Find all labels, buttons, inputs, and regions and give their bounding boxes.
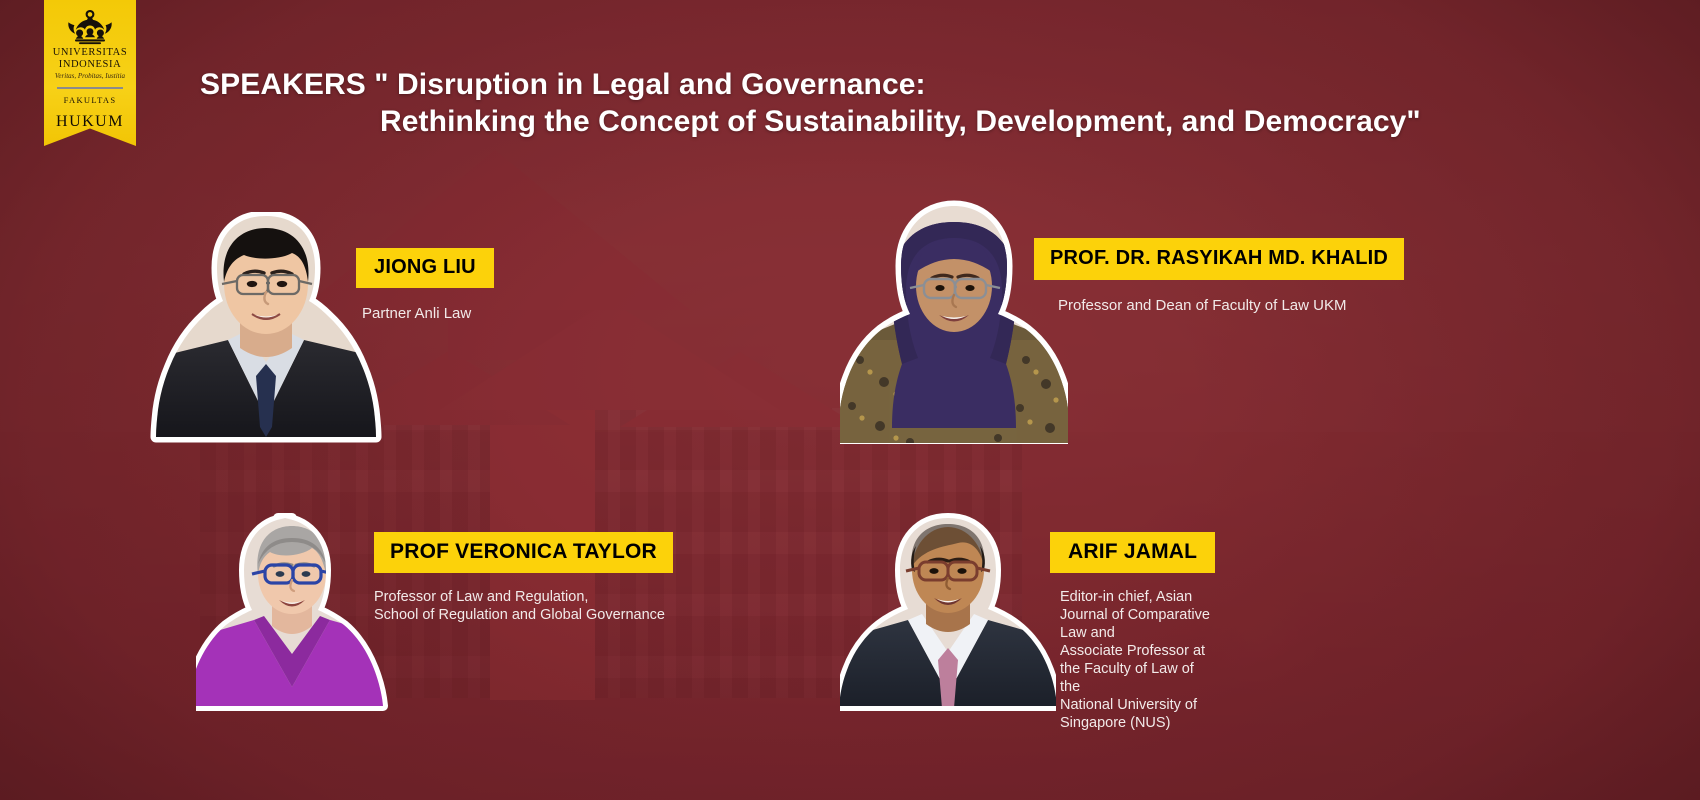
portrait-veronica-taylor	[196, 512, 392, 712]
speakers-poster: UNIVERSITAS INDONESIA Veritas, Probitas,…	[0, 0, 1700, 800]
speaker-info-veronica-taylor: PROF VERONICA TAYLOR Professor of Law an…	[374, 532, 673, 624]
ui-law-logo-banner: UNIVERSITAS INDONESIA Veritas, Probitas,…	[44, 0, 136, 158]
logo-motto: Veritas, Probitas, Iustitia	[44, 72, 136, 80]
speaker-name-badge: PROF. DR. RASYIKAH MD. KHALID	[1034, 238, 1404, 280]
logo-faculty-label: FAKULTAS	[44, 95, 136, 105]
speaker-info-rasyikah-md-khalid: PROF. DR. RASYIKAH MD. KHALID Professor …	[1034, 238, 1404, 315]
speaker-name-badge: PROF VERONICA TAYLOR	[374, 532, 673, 573]
speaker-role-text: Editor-in chief, Asian Journal of Compar…	[1060, 588, 1215, 732]
portrait-arif-jamal	[840, 512, 1056, 712]
logo-university-line1: UNIVERSITAS	[44, 47, 136, 59]
title-line-1: SPEAKERS " Disruption in Legal and Gover…	[200, 66, 1560, 103]
title-line-2: Rethinking the Concept of Sustainability…	[200, 103, 1560, 140]
speaker-role-text: Partner Anli Law	[362, 304, 494, 323]
speaker-info-arif-jamal: ARIF JAMAL Editor-in chief, Asian Journa…	[1050, 532, 1215, 732]
speaker-info-jiong-liu: JIONG LIU Partner Anli Law	[356, 248, 494, 323]
speaker-name-badge: JIONG LIU	[356, 248, 494, 288]
speaker-name-badge: ARIF JAMAL	[1050, 532, 1215, 573]
logo-faculty-name: HUKUM	[44, 113, 136, 131]
makara-ui-icon	[62, 9, 118, 45]
logo-divider	[57, 87, 123, 89]
portrait-rasyikah-md-khalid	[840, 200, 1068, 444]
poster-title: SPEAKERS " Disruption in Legal and Gover…	[200, 66, 1560, 140]
speaker-role-text: Professor and Dean of Faculty of Law UKM	[1058, 296, 1404, 315]
speaker-role-text: Professor of Law and Regulation, School …	[374, 588, 673, 624]
portrait-jiong-liu	[148, 212, 388, 444]
logo-university-line2: INDONESIA	[44, 59, 136, 71]
